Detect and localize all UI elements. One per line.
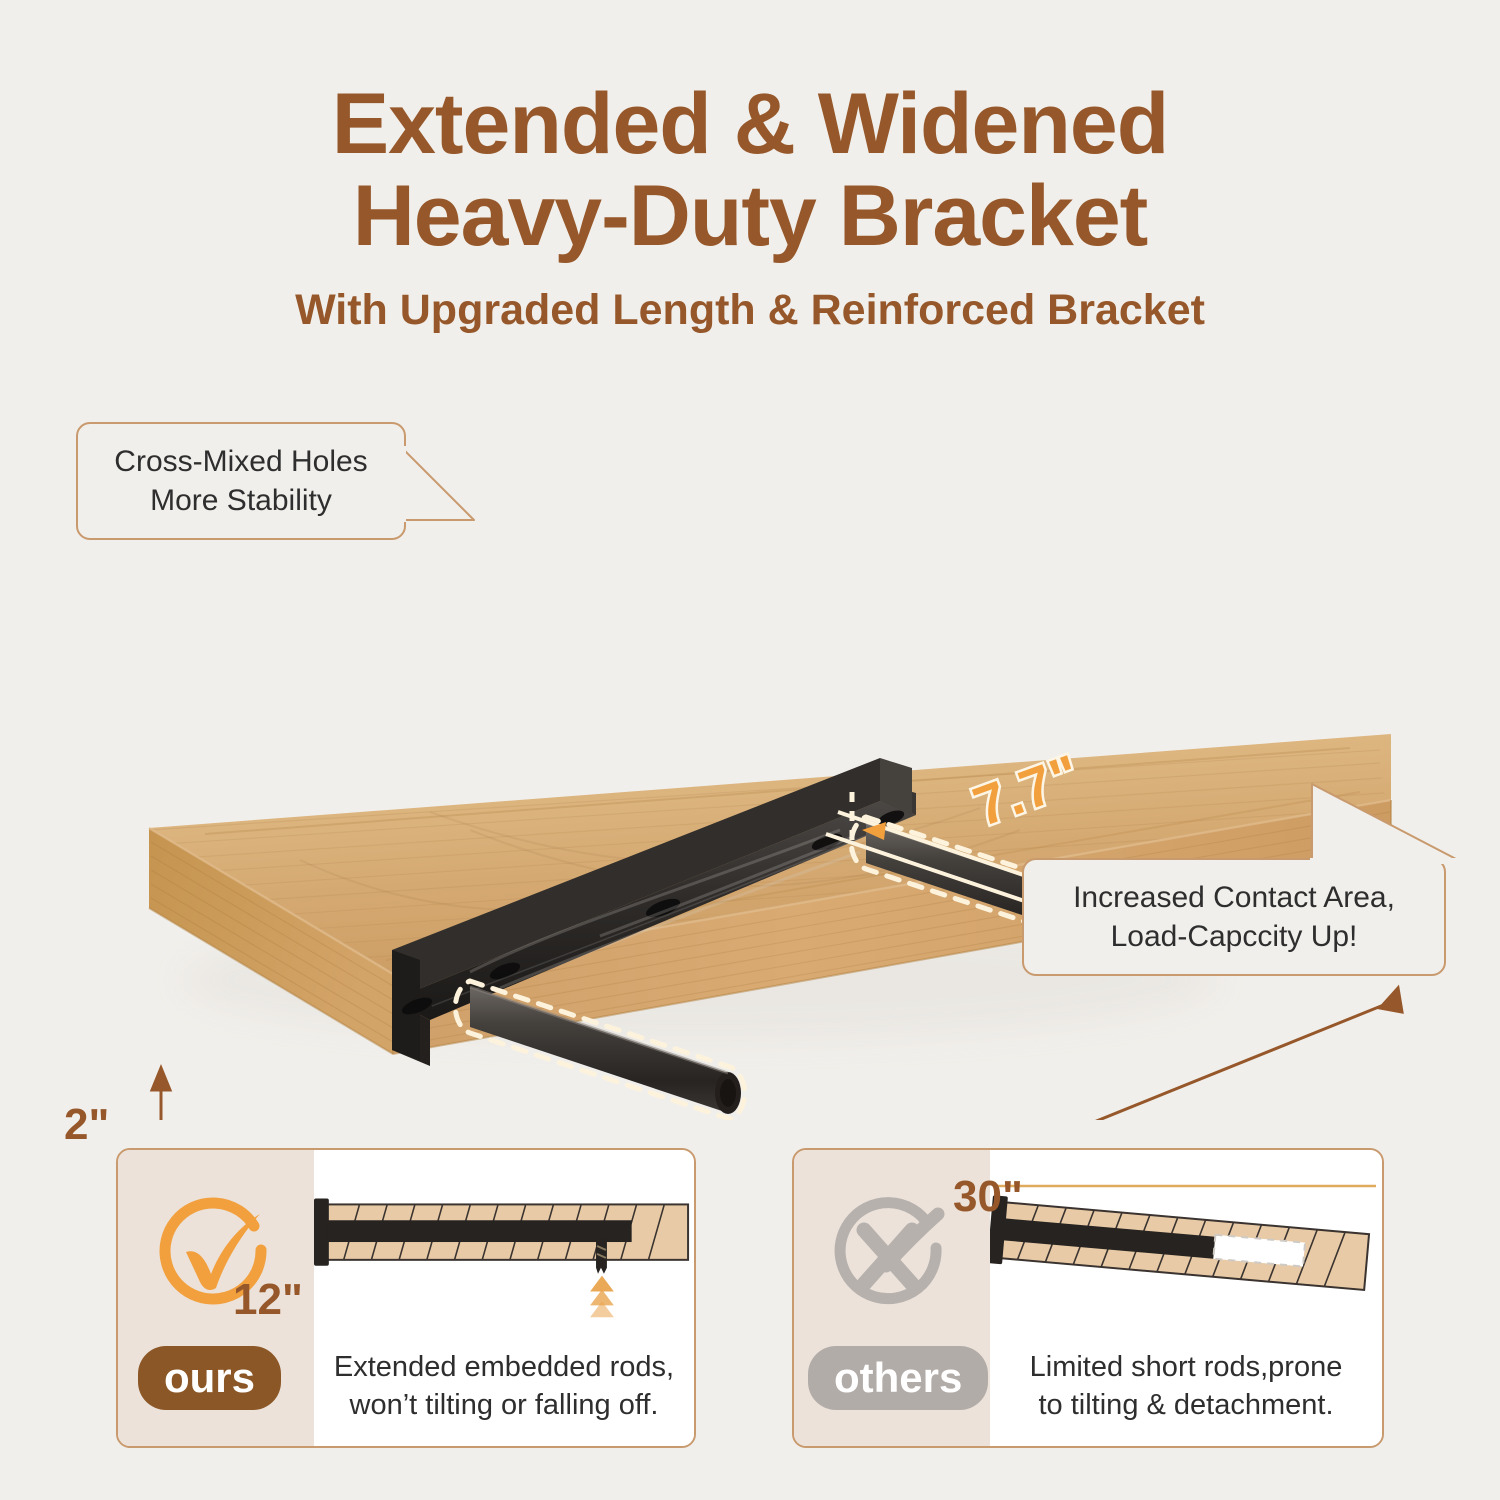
comparison-panel-ours: ours <box>116 1148 696 1448</box>
callout-line-1: Cross-Mixed Holes <box>100 442 382 481</box>
upward-force-arrows <box>590 1276 614 1318</box>
panel-others-caption: Limited short rods,prone to tilting & de… <box>990 1348 1382 1424</box>
thickness-dimension <box>152 1068 170 1120</box>
ours-cross-section-diagram <box>314 1150 694 1340</box>
callout-cross-mixed-holes: Cross-Mixed Holes More Stability <box>76 422 406 540</box>
page-subtitle: With Upgraded Length & Reinforced Bracke… <box>0 286 1500 335</box>
callout-tail-right <box>402 446 476 532</box>
caption-line-2: to tilting & detachment. <box>998 1386 1374 1424</box>
callout-tail-up <box>1310 782 1460 864</box>
dimension-label-thickness: 2" <box>64 1100 109 1150</box>
callout-line-2: Load-Capccity Up! <box>1046 917 1422 956</box>
others-cross-section-diagram <box>990 1150 1382 1340</box>
callout-line-1: Increased Contact Area, <box>1046 878 1422 917</box>
comparison-section: ours <box>0 1148 1500 1448</box>
dimension-label-length: 30" <box>953 1172 1023 1222</box>
hero-product-illustration: Cross-Mixed Holes More Stability Increas… <box>0 360 1500 1120</box>
cross-circle-icon <box>824 1188 954 1318</box>
callout-increased-contact-area: Increased Contact Area, Load-Capccity Up… <box>1022 858 1446 976</box>
page-title-line-1: Extended & Widened <box>0 78 1500 170</box>
badge-others: others <box>808 1346 988 1410</box>
panel-ours-illustration-column: Extended embedded rods, won’t tilting or… <box>314 1150 694 1446</box>
callout-line-2: More Stability <box>100 481 382 520</box>
panel-ours-caption: Extended embedded rods, won’t tilting or… <box>314 1348 694 1424</box>
page-header: Extended & Widened Heavy-Duty Bracket Wi… <box>0 78 1500 335</box>
caption-line-2: won’t tilting or falling off. <box>322 1386 686 1424</box>
panel-others-illustration-column: Limited short rods,prone to tilting & de… <box>990 1150 1382 1446</box>
dimension-label-depth: 12" <box>233 1275 303 1325</box>
badge-ours: ours <box>138 1346 281 1410</box>
comparison-panel-others: others <box>792 1148 1384 1448</box>
caption-line-1: Limited short rods,prone <box>998 1348 1374 1386</box>
caption-line-1: Extended embedded rods, <box>322 1348 686 1386</box>
page-title-line-2: Heavy-Duty Bracket <box>0 170 1500 262</box>
